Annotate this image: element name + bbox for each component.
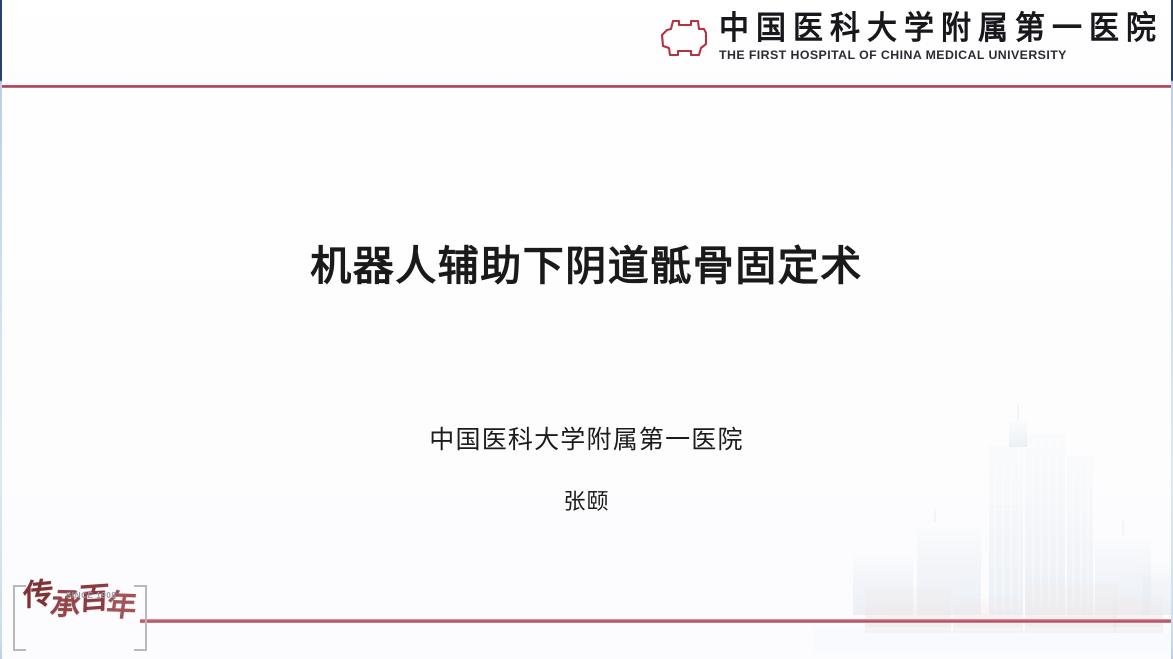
hospital-logo: 中国医科大学附属第一医院 THE FIRST HOSPITAL OF CHINA… — [658, 14, 1163, 61]
left-edge-line — [0, 0, 2, 659]
slide-body — [2, 88, 1171, 659]
title-slide: 中国医科大学附属第一医院 THE FIRST HOSPITAL OF CHINA… — [0, 0, 1173, 659]
seal-calligraphy: 传承百年 — [19, 579, 136, 651]
logo-text-block: 中国医科大学附属第一医院 THE FIRST HOSPITAL OF CHINA… — [719, 14, 1163, 61]
slide-presenter-name: 张颐 — [0, 484, 1173, 516]
slide-title: 机器人辅助下阴道骶骨固定术 — [0, 232, 1173, 292]
footer-divider-rule — [140, 619, 1171, 623]
slide-header: 中国医科大学附属第一医院 THE FIRST HOSPITAL OF CHINA… — [2, 0, 1171, 85]
red-cross-icon — [658, 17, 710, 59]
seal-char-1: 传 — [23, 579, 51, 612]
logo-institution-en: THE FIRST HOSPITAL OF CHINA MEDICAL UNIV… — [719, 49, 1165, 61]
slide-affiliation: 中国医科大学附属第一医院 — [0, 420, 1173, 456]
logo-institution-cn: 中国医科大学附属第一医院 — [719, 13, 1163, 45]
seal-since-text: SINCE 1908 — [66, 591, 116, 600]
centenary-seal: 传承百年 SINCE 1908 — [10, 579, 150, 655]
